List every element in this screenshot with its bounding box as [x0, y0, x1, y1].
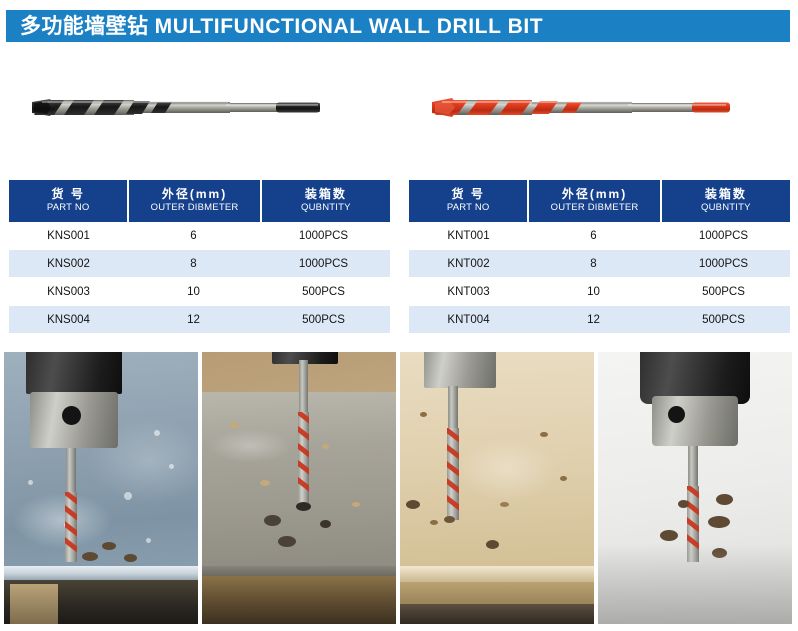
table-row: KNS004 12 500PCS: [9, 306, 390, 334]
bit-flute: [298, 412, 309, 508]
wood-board-core: [400, 582, 594, 604]
drilled-hole: [444, 516, 455, 523]
product-image-black-bit: [30, 62, 350, 157]
dust-speck: [146, 538, 151, 543]
drilled-hole: [708, 516, 730, 528]
drilled-hole: [486, 540, 499, 549]
concrete-chip: [352, 502, 360, 507]
sawdust-fleck: [420, 412, 427, 417]
drilled-hole: [124, 554, 137, 562]
bit-flute: [65, 492, 77, 562]
column-header-part-no-en: PART NO: [47, 203, 90, 214]
column-header-outer-diameter: 外径(mm) OUTER DIBMETER: [529, 180, 659, 222]
column-header-outer-diameter-cn: 外径(mm): [562, 188, 627, 201]
cell-outer-diameter: 12: [128, 314, 259, 326]
concrete-chip: [322, 444, 329, 449]
table-row: KNT002 8 1000PCS: [409, 250, 790, 278]
bit-shank: [299, 360, 308, 416]
drilled-hole: [320, 520, 331, 528]
banner-text: 多功能墙壁钻 MULTIFUNCTIONAL WALL DRILL BIT: [6, 16, 543, 37]
cell-quantity: 500PCS: [259, 286, 388, 298]
column-header-outer-diameter-cn: 外径(mm): [162, 188, 227, 201]
spec-table-knt: 货 号 PART NO 外径(mm) OUTER DIBMETER 装箱数 QU…: [409, 180, 790, 334]
table-row: KNS001 6 1000PCS: [9, 222, 390, 250]
table-header-row: 货 号 PART NO 外径(mm) OUTER DIBMETER 装箱数 QU…: [9, 180, 390, 222]
cell-outer-diameter: 6: [528, 230, 659, 242]
photo-drilling-white-tile: [598, 352, 792, 624]
sawdust-fleck: [500, 502, 509, 507]
cell-quantity: 1000PCS: [659, 258, 788, 270]
chuck-key-hole: [62, 406, 81, 425]
cell-quantity: 500PCS: [259, 314, 388, 326]
cell-quantity: 1000PCS: [259, 230, 388, 242]
cell-outer-diameter: 10: [128, 286, 259, 298]
column-header-outer-diameter: 外径(mm) OUTER DIBMETER: [129, 180, 259, 222]
column-header-quantity-cn: 装箱数: [705, 188, 747, 201]
cell-part-no: KNT004: [409, 314, 528, 326]
drilled-hole: [716, 494, 733, 505]
cell-outer-diameter: 12: [528, 314, 659, 326]
title-banner: 多功能墙壁钻 MULTIFUNCTIONAL WALL DRILL BIT: [6, 10, 790, 42]
cell-outer-diameter: 6: [128, 230, 259, 242]
cell-part-no: KNT001: [409, 230, 528, 242]
column-header-outer-diameter-en: OUTER DIBMETER: [151, 203, 239, 214]
column-header-part-no: 货 号 PART NO: [409, 180, 527, 222]
column-header-quantity: 装箱数 QUBNTITY: [262, 180, 390, 222]
photo-drilling-tile: [4, 352, 198, 624]
dust-speck: [169, 464, 174, 469]
tile-edge: [4, 566, 198, 580]
bit-shank: [66, 448, 76, 496]
drilled-hole: [406, 500, 420, 509]
table-row: KNT003 10 500PCS: [409, 278, 790, 306]
photo-drilling-wood: [400, 352, 594, 624]
cell-outer-diameter: 10: [528, 286, 659, 298]
column-header-part-no-cn: 货 号: [52, 188, 85, 201]
cell-quantity: 1000PCS: [259, 258, 388, 270]
sawdust-fleck: [560, 476, 567, 481]
background-under-board: [400, 604, 594, 624]
column-header-quantity-en: QUBNTITY: [701, 203, 751, 214]
background-under-slab: [202, 576, 396, 624]
column-header-outer-diameter-en: OUTER DIBMETER: [551, 203, 639, 214]
cell-quantity: 500PCS: [659, 314, 788, 326]
table-row: KNS003 10 500PCS: [9, 278, 390, 306]
black-bit-graphic: [30, 90, 350, 126]
banner-title-chinese: 多功能墙壁钻: [20, 15, 148, 38]
table-row: KNS002 8 1000PCS: [9, 250, 390, 278]
red-bit-graphic: [430, 90, 760, 126]
tile-shadow: [598, 544, 792, 624]
column-header-part-no-en: PART NO: [447, 203, 490, 214]
wood-board-edge: [400, 566, 594, 582]
drilled-hole: [660, 530, 678, 541]
column-header-quantity-en: QUBNTITY: [301, 203, 351, 214]
cell-part-no: KNS004: [9, 314, 128, 326]
column-header-part-no: 货 号 PART NO: [9, 180, 127, 222]
table-row: KNT001 6 1000PCS: [409, 222, 790, 250]
support-block: [10, 584, 58, 624]
table-header-row: 货 号 PART NO 外径(mm) OUTER DIBMETER 装箱数 QU…: [409, 180, 790, 222]
sawdust-fleck: [540, 432, 548, 437]
dust-speck: [28, 480, 33, 485]
cell-part-no: KNS001: [9, 230, 128, 242]
drill-chuck-housing: [26, 352, 122, 394]
cell-outer-diameter: 8: [528, 258, 659, 270]
drilled-hole: [264, 515, 281, 526]
sawdust-fleck: [430, 520, 438, 525]
application-photo-strip: [4, 352, 794, 624]
product-image-red-bit: [430, 62, 760, 157]
photo-drilling-concrete: [202, 352, 396, 624]
concrete-chip: [260, 480, 270, 486]
drilled-hole: [296, 502, 311, 511]
product-image-row: [0, 62, 798, 157]
cell-quantity: 1000PCS: [659, 230, 788, 242]
drill-chuck-collar: [424, 352, 496, 388]
concrete-slab-edge: [202, 566, 396, 576]
drill-chuck-collar: [652, 396, 738, 446]
cell-part-no: KNS003: [9, 286, 128, 298]
column-header-part-no-cn: 货 号: [452, 188, 485, 201]
banner-title-english: MULTIFUNCTIONAL WALL DRILL BIT: [155, 15, 544, 38]
cell-quantity: 500PCS: [659, 286, 788, 298]
chuck-key-hole: [668, 406, 685, 423]
table-row: KNT004 12 500PCS: [409, 306, 790, 334]
drilled-hole: [278, 536, 296, 547]
drilled-hole: [678, 500, 689, 508]
cell-part-no: KNS002: [9, 258, 128, 270]
dust-speck: [154, 430, 160, 436]
drilled-hole: [82, 552, 98, 561]
cell-part-no: KNT002: [409, 258, 528, 270]
bit-shank: [448, 386, 458, 434]
concrete-chip: [230, 422, 239, 428]
dust-speck: [124, 492, 132, 500]
bit-flute: [447, 428, 459, 520]
drilled-hole: [102, 542, 116, 550]
cell-outer-diameter: 8: [128, 258, 259, 270]
column-header-quantity-cn: 装箱数: [305, 188, 347, 201]
red-drill-bit-svg: [430, 90, 760, 126]
cell-part-no: KNT003: [409, 286, 528, 298]
black-drill-bit-svg: [30, 90, 350, 126]
column-header-quantity: 装箱数 QUBNTITY: [662, 180, 790, 222]
spec-table-kns: 货 号 PART NO 外径(mm) OUTER DIBMETER 装箱数 QU…: [9, 180, 390, 334]
